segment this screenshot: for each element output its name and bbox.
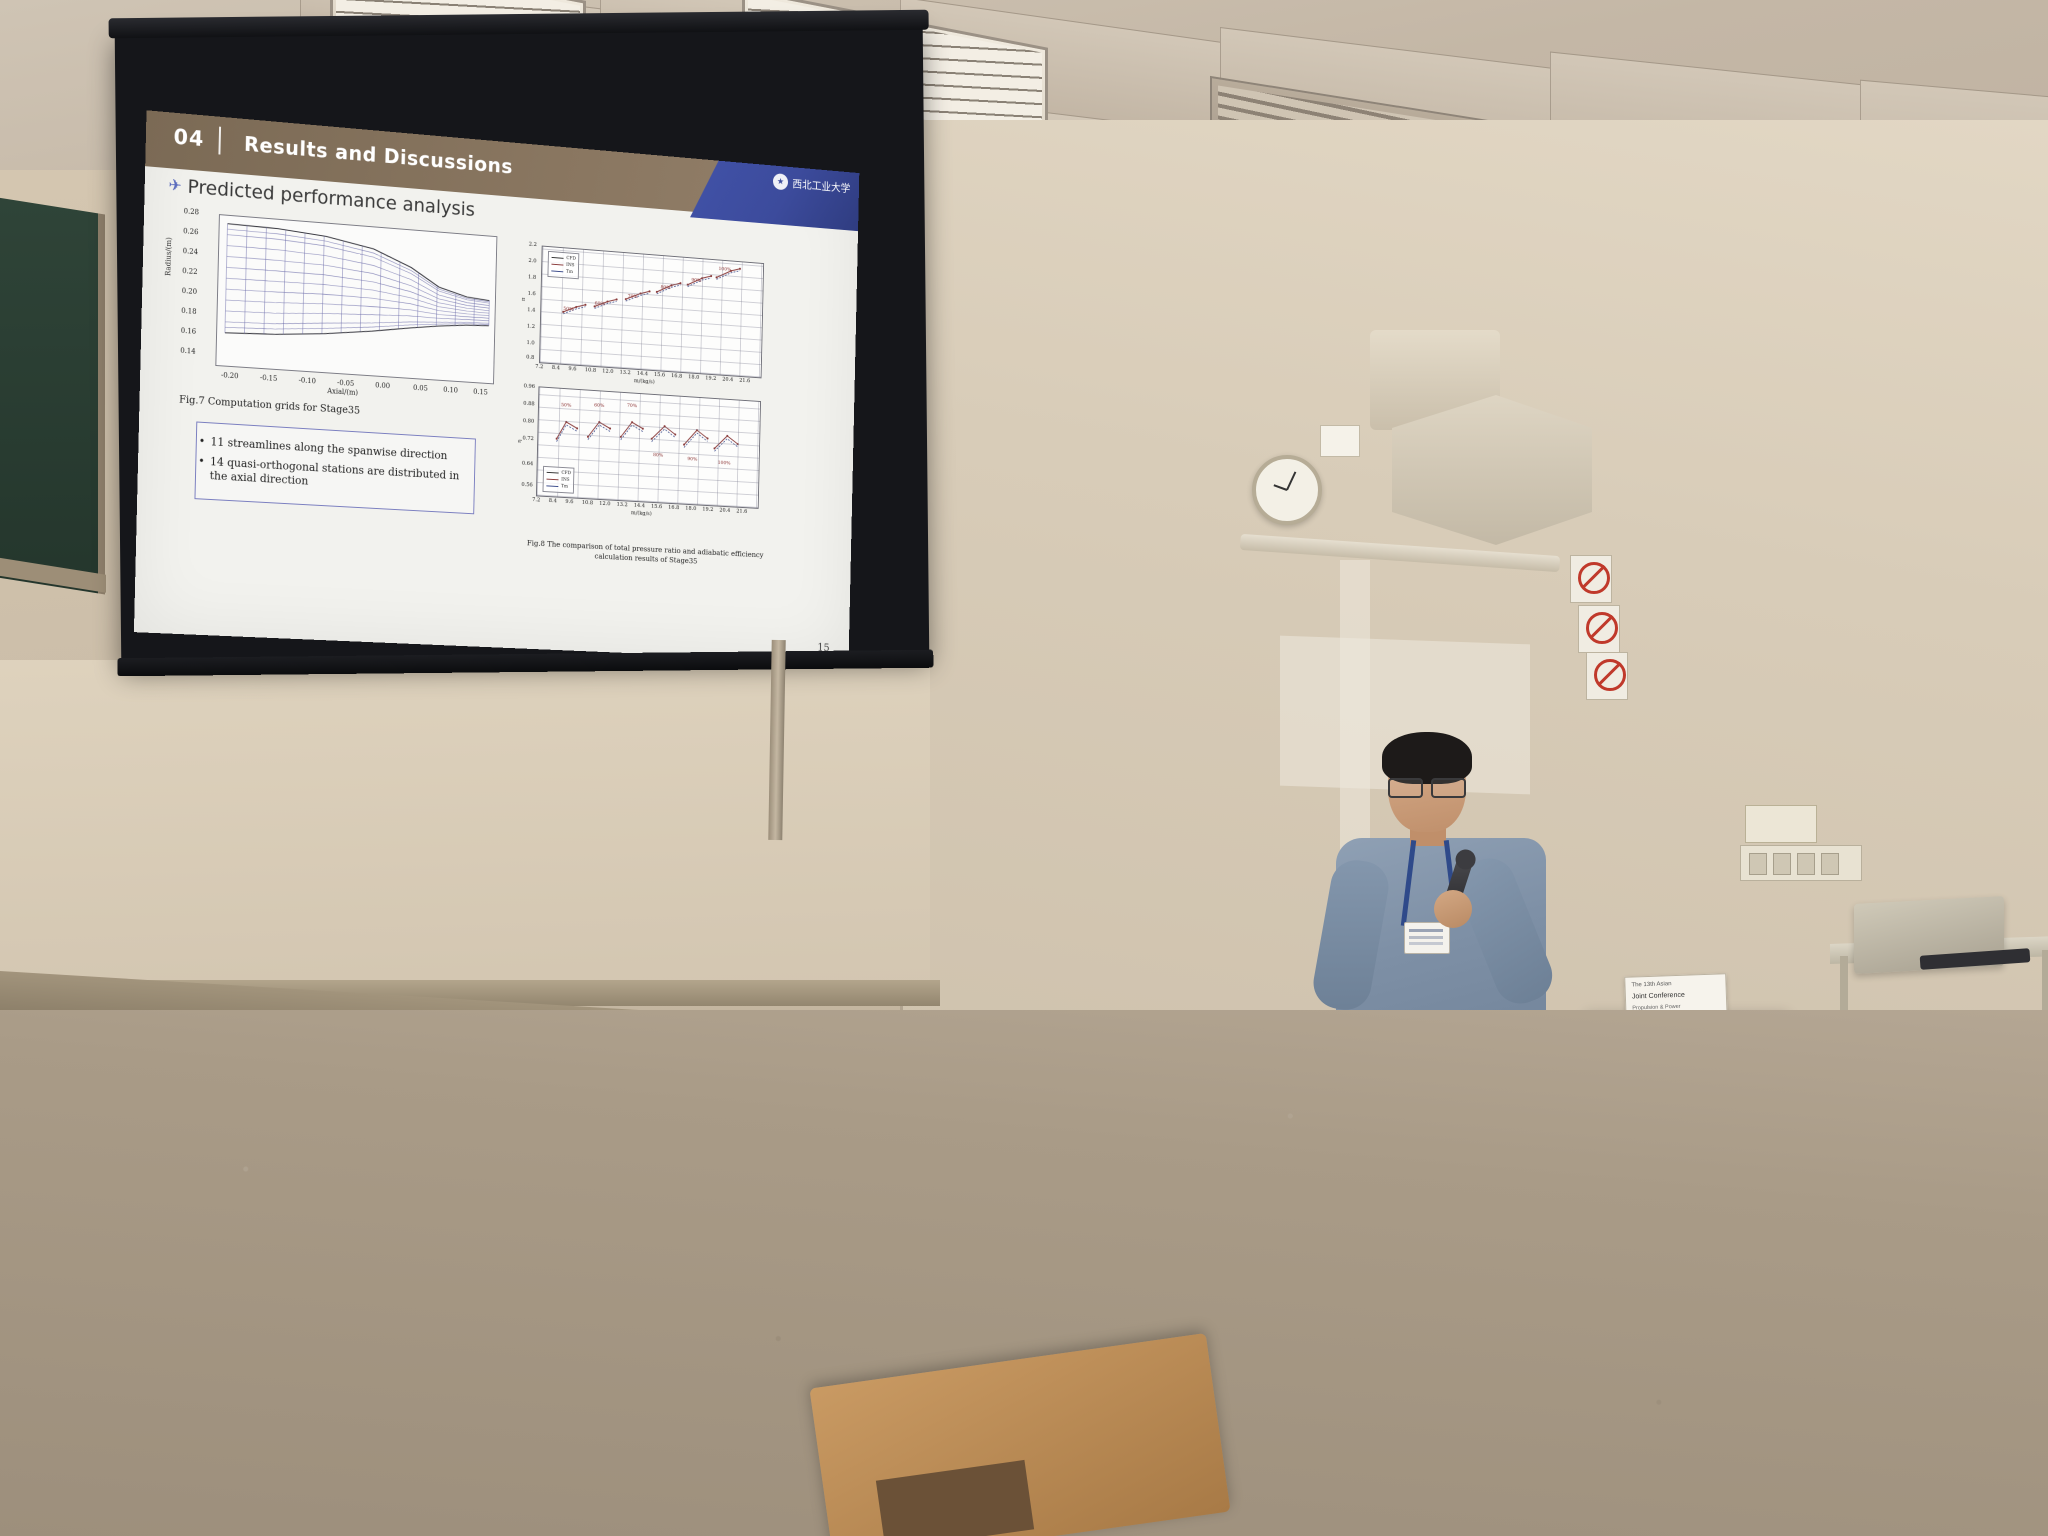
fig7-grid-svg	[216, 215, 498, 385]
legend-swatch	[552, 257, 564, 259]
fig8-upper-plot-area: CFD INS Tm 50% 60% 70% 80% 90% 100%	[539, 246, 764, 379]
fig8-lower-ytick: 0.88	[523, 401, 534, 408]
fig8-upper-ylabel: π	[521, 297, 527, 301]
logo-emblem-icon: ★	[773, 173, 788, 190]
fig7-ytick: 0.22	[182, 267, 198, 276]
wall-clock	[1252, 455, 1322, 525]
fig8-lower-speedline-label: 70%	[627, 403, 637, 409]
fig8-upper-xtick: 12.0	[602, 368, 613, 375]
fig7-xtick: 0.00	[375, 381, 390, 390]
legend-swatch	[551, 270, 563, 272]
fig8-lower-xtick: 18.0	[685, 506, 696, 512]
fig8-upper-ytick: 1.8	[528, 274, 536, 280]
fig8-upper-ytick: 0.8	[526, 355, 534, 361]
fig8-lower-xtick: 21.6	[736, 509, 747, 515]
fig8-lower-xtick: 12.0	[599, 501, 610, 507]
fig7-ytick: 0.16	[181, 327, 197, 336]
fig8-upper-ytick: 1.6	[528, 291, 536, 297]
airplane-icon: ✈	[168, 175, 182, 196]
fig7-chart: Radius/(m) 0.28 0.26 0.24 0.22 0.20 0.18…	[164, 204, 503, 410]
no-drink-sign	[1586, 652, 1628, 700]
slide-section-number: 04	[173, 125, 204, 152]
presentation-slide: 04 Results and Discussions ★ 西北工业大学 ✈ Pr…	[134, 110, 859, 662]
fig8-lower-xtick: 8.4	[549, 498, 557, 504]
fig8-upper-ytick: 1.2	[527, 324, 535, 330]
chalkboard	[0, 196, 105, 595]
presenter-hand	[1434, 890, 1472, 928]
fig8-lower-xtick: 7.2	[532, 497, 540, 503]
fig7-xtick: -0.05	[337, 379, 354, 388]
fig8-lower-plot-area: CFD INS Tm 50% 60% 70% 80% 90% 100%	[536, 386, 761, 509]
fig8-lower-legend: CFD INS Tm	[543, 466, 575, 494]
legend-label: INS	[566, 263, 574, 268]
fig8-upper-xtick: 19.2	[705, 376, 716, 382]
fig8-lower-xtick: 15.6	[651, 504, 662, 510]
fig7-xtick: -0.10	[299, 376, 316, 385]
legend-label: Tm	[566, 270, 573, 275]
fig8-lower-ytick: 0.96	[524, 383, 535, 390]
fig8-upper-ytick: 1.4	[527, 307, 535, 313]
legend-entry: Tm	[546, 482, 570, 490]
legend-swatch	[546, 479, 558, 481]
fig8-speedline-label: 60%	[595, 301, 605, 308]
fig8-speedline-label: 50%	[563, 306, 573, 313]
fig7-xtick: 0.15	[473, 388, 488, 397]
fig8-lower-ytick: 0.80	[523, 418, 534, 425]
fig8-upper-ytick: 1.0	[526, 340, 534, 346]
fig8-upper-xtick: 16.8	[671, 373, 682, 379]
fig7-plot-area	[215, 214, 497, 384]
no-food-sign	[1578, 605, 1620, 653]
fig8-upper-ytick: 2.2	[529, 242, 537, 248]
fig7-xtick: -0.20	[221, 371, 239, 380]
fig8-lower-speedline-label: 100%	[718, 460, 731, 466]
fig8-lower-xtick: 9.6	[565, 499, 573, 505]
fig8-lower-xtick: 19.2	[702, 507, 713, 513]
legend-swatch	[551, 264, 563, 266]
fig7-ytick: 0.28	[184, 207, 200, 216]
legend-entry: Tm	[551, 268, 575, 277]
placard-line-1: The 13th Asian	[1631, 981, 1671, 988]
fig8-lower-ytick: 0.72	[522, 436, 533, 442]
fig7-ytick: 0.24	[183, 247, 199, 256]
fig7-ytick: 0.26	[183, 227, 199, 236]
legend-label: CFD	[566, 256, 576, 262]
glasses-icon	[1388, 778, 1466, 795]
fig8-speedline-label: 90%	[691, 277, 701, 283]
fig8-lower-xlabel: m/(kg/s)	[631, 510, 652, 517]
fig8-lower-speedline-label: 50%	[561, 402, 571, 408]
projection-screen: 04 Results and Discussions ★ 西北工业大学 ✈ Pr…	[115, 26, 930, 666]
fig7-ylabel: Radius/(m)	[164, 237, 173, 276]
fig8-upper-xtick: 8.4	[552, 365, 560, 371]
fig8-upper-xtick: 13.2	[619, 370, 630, 376]
legend-swatch	[546, 485, 558, 487]
fig8-upper-xtick: 21.6	[739, 378, 750, 384]
legend-label: Tm	[561, 484, 568, 489]
fig8-lower-xtick: 16.8	[668, 505, 679, 511]
fig8-lower-ytick: 0.64	[522, 461, 533, 467]
fig8-lower-speedline-label: 90%	[687, 456, 697, 462]
fig8-lower-xtick: 14.4	[634, 503, 645, 509]
fig8-speedline-label: 80%	[660, 285, 670, 291]
fig8-upper-xlabel: m/(kg/s)	[634, 378, 655, 385]
fig7-ytick: 0.18	[181, 307, 197, 316]
fig8-lower-speedline-label: 80%	[653, 452, 663, 458]
fig8-upper-xtick: 14.4	[637, 371, 648, 377]
wall-control-box[interactable]	[1320, 425, 1360, 457]
fig7-xtick: 0.10	[443, 386, 458, 395]
conference-badge	[1404, 922, 1450, 954]
legend-label: CFD	[561, 471, 571, 476]
legend-swatch	[547, 472, 559, 474]
fig8-upper-ytick: 2.0	[528, 258, 536, 264]
fig8-speedline-label: 100%	[718, 266, 731, 273]
fig7-xtick: 0.05	[413, 384, 428, 393]
fig8-lower-ytick: 0.56	[521, 482, 532, 488]
fig8-lower-xtick: 13.2	[616, 502, 627, 508]
fig7-xtick: -0.15	[260, 374, 278, 383]
fig8-lower-xtick: 10.8	[582, 500, 593, 506]
bullet-callout-box: 11 streamlines along the spanwise direct…	[194, 421, 475, 514]
legend-label: INS	[561, 478, 569, 483]
fig8-lower-speedline-label: 60%	[594, 403, 604, 409]
fig8-lower-xtick: 20.4	[719, 508, 730, 514]
wall-outlet-strip[interactable]	[1740, 845, 1862, 881]
presenter-hair	[1382, 732, 1472, 784]
fig8-upper-xtick: 18.0	[688, 374, 699, 380]
conference-room-scene: 04 Results and Discussions ★ 西北工业大学 ✈ Pr…	[0, 0, 2048, 1536]
fig8-speedline-label: 70%	[628, 294, 638, 300]
fig8-upper-xtick: 10.8	[585, 367, 596, 374]
fig8-upper-legend: CFD INS Tm	[547, 251, 579, 279]
fig8-caption: Fig.8 The comparison of total pressure r…	[509, 538, 781, 571]
no-smoking-sign	[1570, 555, 1612, 603]
placard-line-2: Joint Conference	[1632, 992, 1685, 1001]
fig8-upper-xtick: 9.6	[568, 366, 576, 372]
fig8-upper-xtick: 7.2	[535, 364, 543, 370]
fig7-ytick: 0.14	[180, 347, 196, 356]
wall-board	[0, 660, 930, 990]
wall-plate	[1745, 805, 1817, 843]
fig7-ytick: 0.20	[182, 287, 198, 296]
fig8-chart: CFD INS Tm 50% 60% 70% 80% 90% 100% π 2.…	[511, 240, 789, 544]
fig7-xlabel: Axial/(m)	[327, 387, 358, 397]
fig8-upper-xtick: 20.4	[722, 377, 733, 383]
fig8-upper-xtick: 15.6	[654, 372, 665, 378]
